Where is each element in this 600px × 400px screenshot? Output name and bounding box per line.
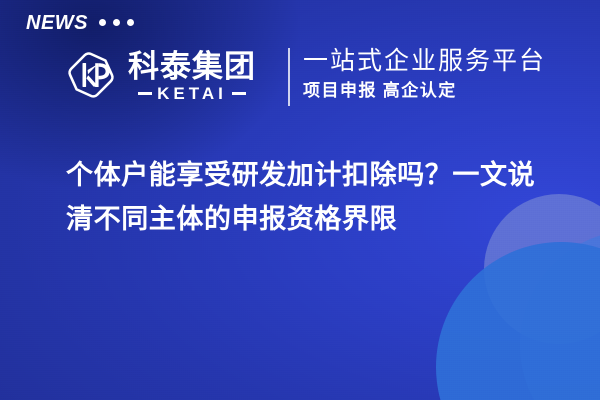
vertical-divider-icon: [288, 48, 290, 106]
horizontal-rule-icon: [232, 92, 246, 95]
news-dots: [99, 19, 134, 28]
news-kicker: NEWS: [26, 13, 134, 33]
ketai-diamond-kp-logo-icon: [62, 46, 120, 104]
tagline-sub: 项目申报 高企认定: [303, 80, 546, 102]
tagline-main: 一站式企业服务平台: [303, 46, 546, 77]
brand-tagline: 一站式企业服务平台 项目申报 高企认定: [303, 46, 546, 102]
page-title: 个体户能享受研发加计扣除吗？一文说清不同主体的申报资格界限: [66, 154, 544, 241]
news-banner: NEWS 科泰集团: [0, 0, 600, 400]
brand-name-en-row: KETAI: [128, 85, 256, 102]
brand-lockup: 科泰集团 KETAI: [62, 46, 256, 104]
brand-words: 科泰集团 KETAI: [128, 48, 256, 101]
horizontal-rule-icon: [138, 92, 152, 95]
brand-name-cn: 科泰集团: [128, 50, 256, 83]
bullet-dot-icon: [127, 19, 134, 26]
news-label: NEWS: [26, 13, 88, 33]
bullet-dot-icon: [113, 19, 120, 26]
bullet-dot-icon: [99, 19, 106, 26]
brand-name-en: KETAI: [157, 85, 227, 102]
